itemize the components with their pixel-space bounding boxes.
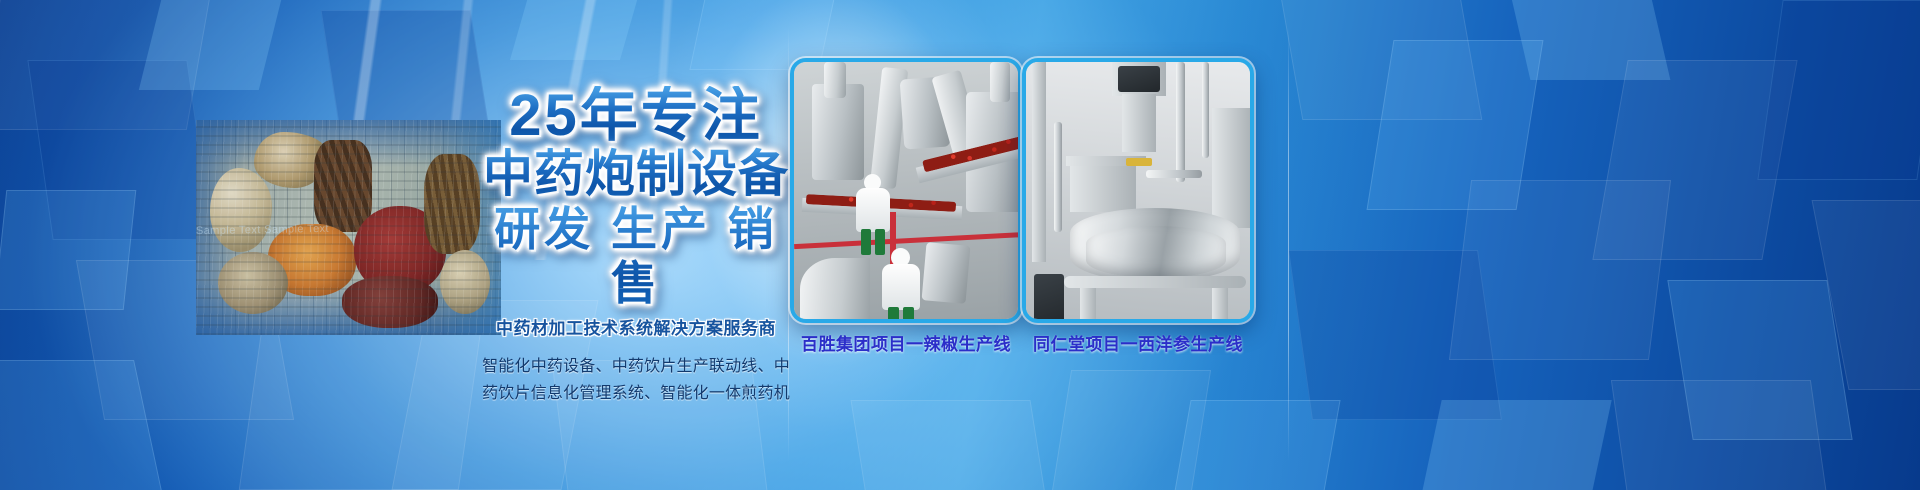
american-ginseng-production-line-photo[interactable]	[1022, 58, 1254, 323]
sample-text-watermark: Sample Text Sample Text	[196, 221, 329, 240]
chili-production-line-photo[interactable]	[790, 58, 1022, 323]
promotional-banner: Sample Text Sample Text 25年专注 中药炮制设备 研发 …	[0, 0, 1920, 490]
photo-caption-1: 百胜集团项目一辣椒生产线	[790, 330, 1022, 355]
tagline: 中药材加工技术系统解决方案服务商	[472, 314, 800, 339]
description-line-1: 智能化中药设备、中药饮片生产联动线、中	[472, 353, 800, 380]
headline-line-2: 中药炮制设备	[472, 146, 800, 202]
headline-line-1: 25年专注	[472, 86, 800, 146]
description-line-2: 药饮片信息化管理系统、智能化一体煎药机	[472, 380, 800, 407]
headline-line-3: 研发 生产 销售	[472, 202, 800, 310]
headline-text-block: 25年专注 中药炮制设备 研发 生产 销售 中药材加工技术系统解决方案服务商 智…	[472, 86, 800, 407]
right-divider	[1288, 26, 1289, 462]
photo-caption-2: 同仁堂项目一西洋参生产线	[1022, 330, 1254, 355]
